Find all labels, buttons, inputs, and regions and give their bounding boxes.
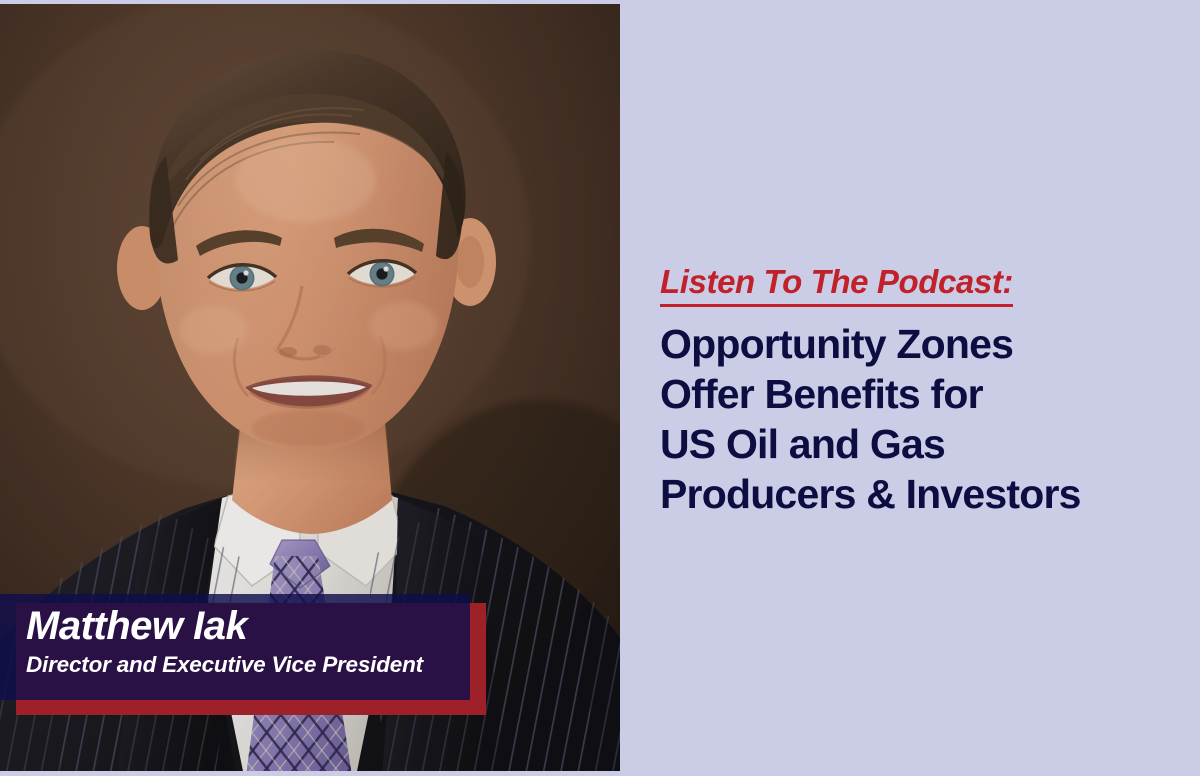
person-name: Matthew Iak [26, 602, 460, 650]
name-banner: Matthew Iak Director and Executive Vice … [0, 594, 470, 700]
podcast-eyebrow-label: Listen To The Podcast: [660, 262, 1013, 307]
headline-line-3: US Oil and Gas [660, 419, 1180, 469]
person-title: Director and Executive Vice President [26, 650, 460, 680]
headline-title: Opportunity Zones Offer Benefits for US … [660, 319, 1180, 519]
headline-line-2: Offer Benefits for [660, 369, 1180, 419]
portrait-photo-panel: Matthew Iak Director and Executive Vice … [0, 0, 620, 776]
podcast-promo-card: Matthew Iak Director and Executive Vice … [0, 0, 1200, 776]
bottom-edge-strip [0, 771, 1200, 776]
headline-text-panel: Listen To The Podcast: Opportunity Zones… [620, 0, 1200, 776]
headline-line-4: Producers & Investors [660, 469, 1180, 519]
headline-line-1: Opportunity Zones [660, 319, 1180, 369]
top-edge-strip [0, 0, 1200, 4]
headline-block: Listen To The Podcast: Opportunity Zones… [660, 262, 1180, 519]
